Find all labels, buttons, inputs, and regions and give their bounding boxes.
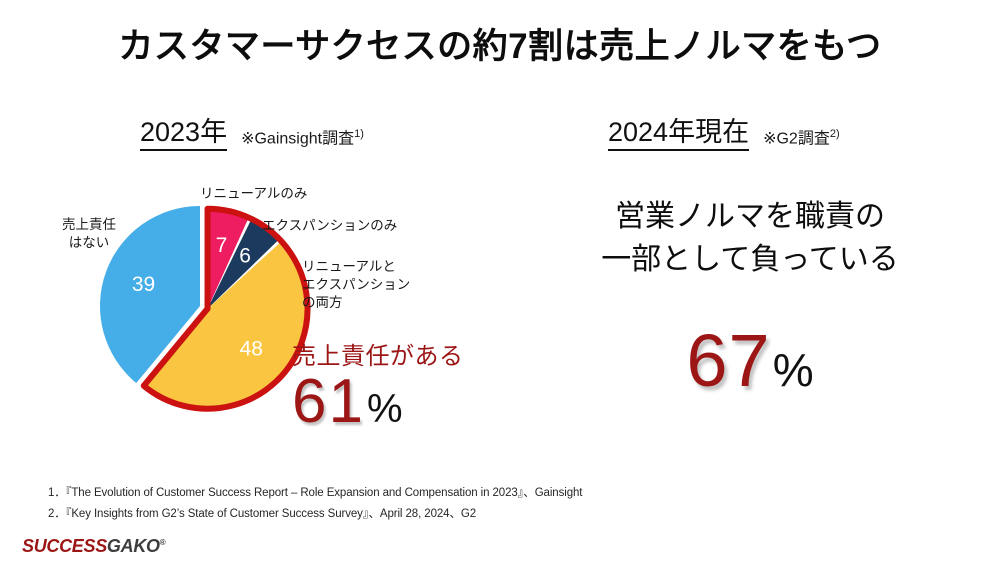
left-source-text: ※Gainsight調査 — [241, 130, 354, 147]
left-column-heading: 2023年 ※Gainsight調査1) — [140, 118, 364, 151]
footnote-1: 1．『The Evolution of Customer Success Rep… — [48, 483, 582, 504]
right-source-text: ※G2調査 — [763, 130, 830, 147]
right-source-label: ※G2調査2) — [763, 128, 840, 151]
pie-value-expansion-only: 6 — [239, 244, 251, 267]
pie-label-both: リニューアルと エクスパンション の両方 — [302, 258, 410, 311]
pie-label-both-line2: エクスパンション — [302, 276, 410, 294]
pie-label-both-line1: リニューアルと — [302, 258, 410, 276]
right-source-ref: 2) — [830, 128, 840, 140]
right-highlight-stat: 67% — [540, 324, 960, 398]
pie-value-renewal-only: 7 — [216, 234, 228, 257]
pie-value-no-quota: 39 — [132, 273, 155, 296]
page-title: カスタマーサクセスの約7割は売上ノルマをもつ — [0, 18, 1000, 69]
right-year-label: 2024年現在 — [608, 118, 749, 151]
right-statement: 営業ノルマを職責の 一部として負っている — [540, 196, 960, 281]
left-source-ref: 1) — [354, 128, 364, 140]
right-statement-line2: 一部として負っている — [540, 239, 960, 282]
brand-logo: SUCCESSGAKO® — [22, 536, 165, 557]
pie-label-expansion-only: エクスパンションのみ — [262, 217, 397, 235]
footnotes: 1．『The Evolution of Customer Success Rep… — [48, 483, 582, 526]
logo-registered-mark: ® — [160, 538, 166, 547]
left-highlight-value: 61 — [292, 367, 365, 436]
pie-label-both-line3: の両方 — [302, 294, 410, 312]
left-source-label: ※Gainsight調査1) — [241, 128, 364, 151]
left-highlight-unit: % — [367, 387, 403, 431]
pie-value-both: 48 — [240, 337, 263, 360]
logo-success-text: SUCCESS — [22, 536, 107, 556]
pie-label-no-quota-line2: はない — [62, 234, 116, 252]
right-highlight-unit: % — [773, 344, 814, 396]
logo-gako-text: GAKO — [107, 536, 160, 556]
pie-label-no-quota: 売上責任 はない — [62, 216, 116, 252]
left-highlight-stat: 売上責任がある 61% — [292, 344, 522, 433]
left-year-label: 2023年 — [140, 118, 227, 151]
left-highlight-value-row: 61% — [292, 371, 522, 433]
pie-label-no-quota-line1: 売上責任 — [62, 216, 116, 234]
footnote-2: 2．『Key Insights from G2’s State of Custo… — [48, 504, 582, 525]
pie-label-renewal-only: リニューアルのみ — [200, 185, 307, 203]
right-column-heading: 2024年現在 ※G2調査2) — [608, 118, 840, 151]
right-highlight-value: 67 — [686, 319, 770, 402]
right-statement-line1: 営業ノルマを職責の — [540, 196, 960, 239]
